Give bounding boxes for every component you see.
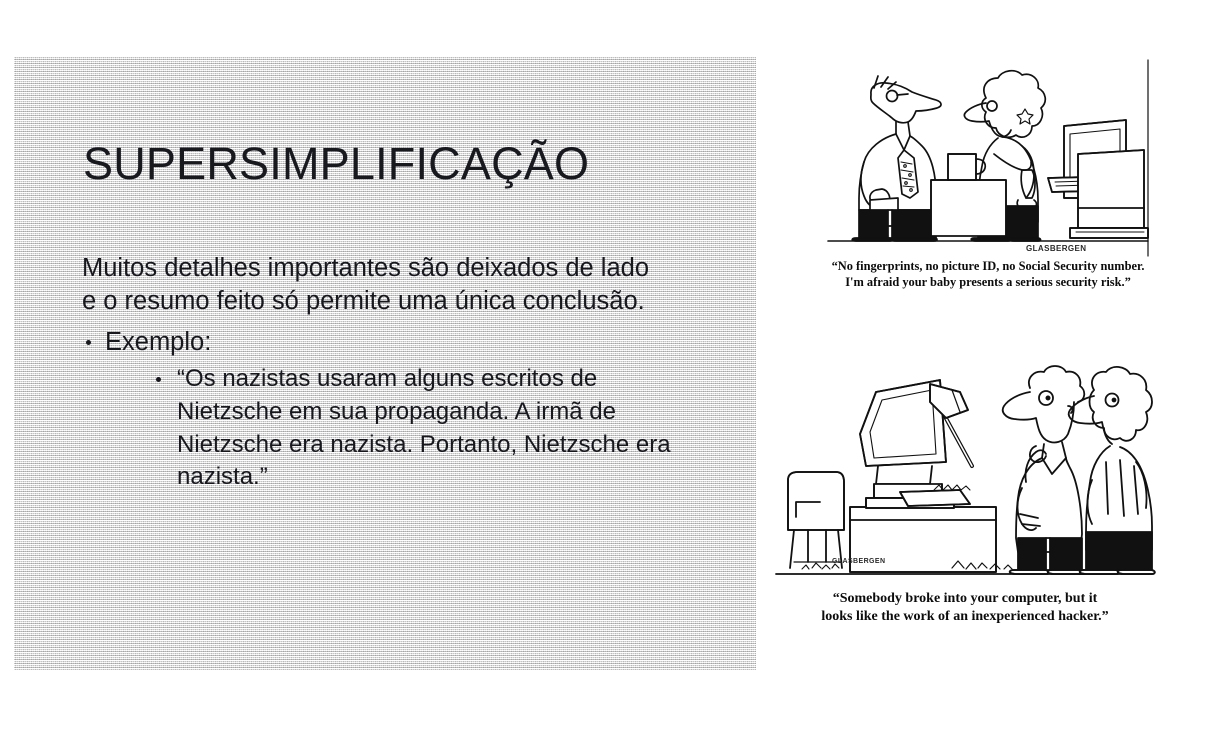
slide-content: SUPERSIMPLIFICAÇÃO Muitos detalhes impor…: [14, 57, 756, 670]
bullet-dot-icon: [86, 340, 91, 345]
cartoon-caption: “Somebody broke into your computer, but …: [774, 590, 1156, 626]
caption-line-2: looks like the work of an inexperienced …: [774, 608, 1156, 626]
artist-signature: GLASBERGEN: [1026, 244, 1086, 253]
security-risk-cartoon: GLASBERGEN “No fingerprints, no picture …: [826, 58, 1150, 308]
caption-line-1: “No fingerprints, no picture ID, no Soci…: [826, 259, 1150, 275]
bullet-list-level1: Exemplo: “Os nazistas usaram alguns escr…: [82, 326, 682, 494]
cartoon-illustration: [774, 362, 1156, 587]
artist-signature: GLASBERGEN: [832, 558, 885, 565]
slide-canvas: SUPERSIMPLIFICAÇÃO Muitos detalhes impor…: [14, 57, 756, 670]
body-paragraph: Muitos detalhes importantes são deixados…: [82, 252, 667, 318]
caption-line-1: “Somebody broke into your computer, but …: [774, 590, 1156, 608]
bullet-list-level2: “Os nazistas usaram alguns escritos de N…: [105, 363, 682, 494]
slide-body-text: Muitos detalhes importantes são deixados…: [82, 252, 682, 494]
sub-bullet-label: “Os nazistas usaram alguns escritos de N…: [177, 365, 671, 490]
bullet-dot-icon: [156, 377, 161, 382]
bullet-label: Exemplo:: [105, 328, 211, 356]
cartoon-caption: “No fingerprints, no picture ID, no Soci…: [826, 259, 1150, 291]
page-title: SUPERSIMPLIFICAÇÃO: [83, 140, 589, 187]
inexperienced-hacker-cartoon: GLASBERGEN “Somebody broke into your com…: [774, 362, 1156, 634]
list-item: Exemplo: “Os nazistas usaram alguns escr…: [82, 326, 682, 494]
cartoon-illustration: [826, 58, 1150, 258]
list-item: “Os nazistas usaram alguns escritos de N…: [151, 363, 697, 494]
caption-line-2: I'm afraid your baby presents a serious …: [826, 275, 1150, 291]
